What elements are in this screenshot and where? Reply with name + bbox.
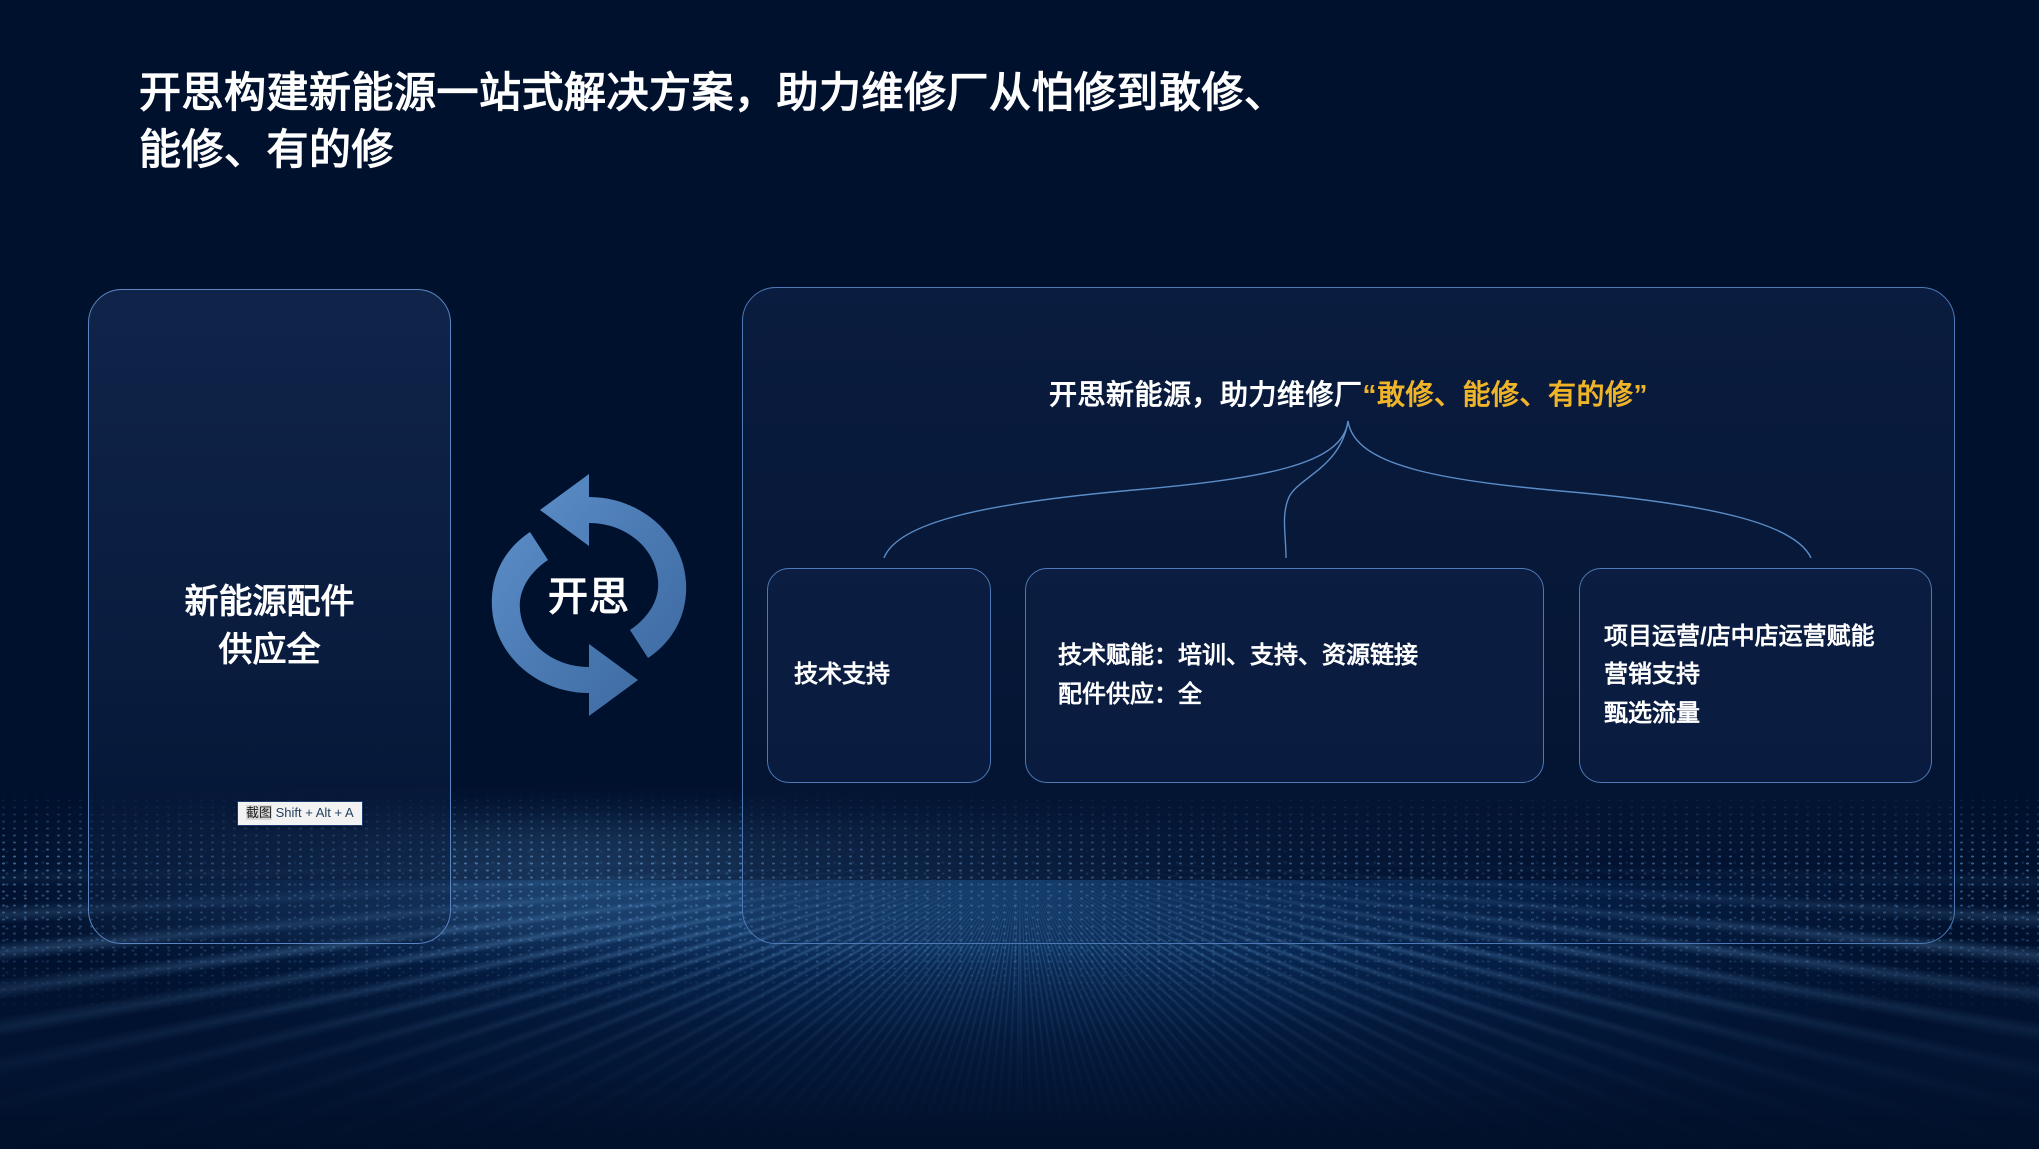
brand-mark-label: 开思 [464,564,714,622]
capability-box-text: 技术赋能：培训、支持、资源链接 配件供应：全 [1026,637,1444,714]
capability-box-text: 技术支持 [768,656,916,694]
screenshot-tooltip-label: 截图 [246,805,272,820]
background-bottom-fade [0,949,2039,1149]
panel-heading-primary: 开思新能源，助力维修厂 [1049,379,1363,410]
capability-box-operations: 项目运营/店中店运营赋能 营销支持 甄选流量 [1579,568,1932,783]
cycle-arrow-bottom [492,532,638,716]
capability-box-tech-support: 技术支持 [767,568,991,783]
brand-mark: 开思 [464,470,714,720]
left-card-label: 新能源配件 供应全 [89,578,450,675]
left-highlight-card: 新能源配件 供应全 [88,289,451,944]
capability-box-text: 项目运营/店中店运营赋能 营销支持 甄选流量 [1580,618,1887,733]
solution-panel: 开思新能源，助力维修厂“敢修、能修、有的修” 技术支持 技术赋能：培训、支持、资… [742,287,1955,944]
screenshot-shortcut-tooltip: 截图 Shift + Alt + A [237,801,363,826]
slide-canvas: 开思构建新能源一站式解决方案，助力维修厂从怕修到敢修、 能修、有的修 新能源配件… [0,0,2039,1149]
screenshot-tooltip-shortcut: Shift + Alt + A [276,805,354,820]
capability-box-tech-enablement: 技术赋能：培训、支持、资源链接 配件供应：全 [1025,568,1544,783]
capability-box-row: 技术支持 技术赋能：培训、支持、资源链接 配件供应：全 项目运营/店中店运营赋能… [743,568,1954,783]
panel-heading: 开思新能源，助力维修厂“敢修、能修、有的修” [743,373,1954,413]
panel-heading-accent: “敢修、能修、有的修” [1363,379,1649,410]
connector-to-box-1 [884,421,1348,558]
connector-lines [743,413,1953,558]
page-title: 开思构建新能源一站式解决方案，助力维修厂从怕修到敢修、 能修、有的修 [139,64,1639,178]
connector-to-box-3 [1348,421,1811,558]
